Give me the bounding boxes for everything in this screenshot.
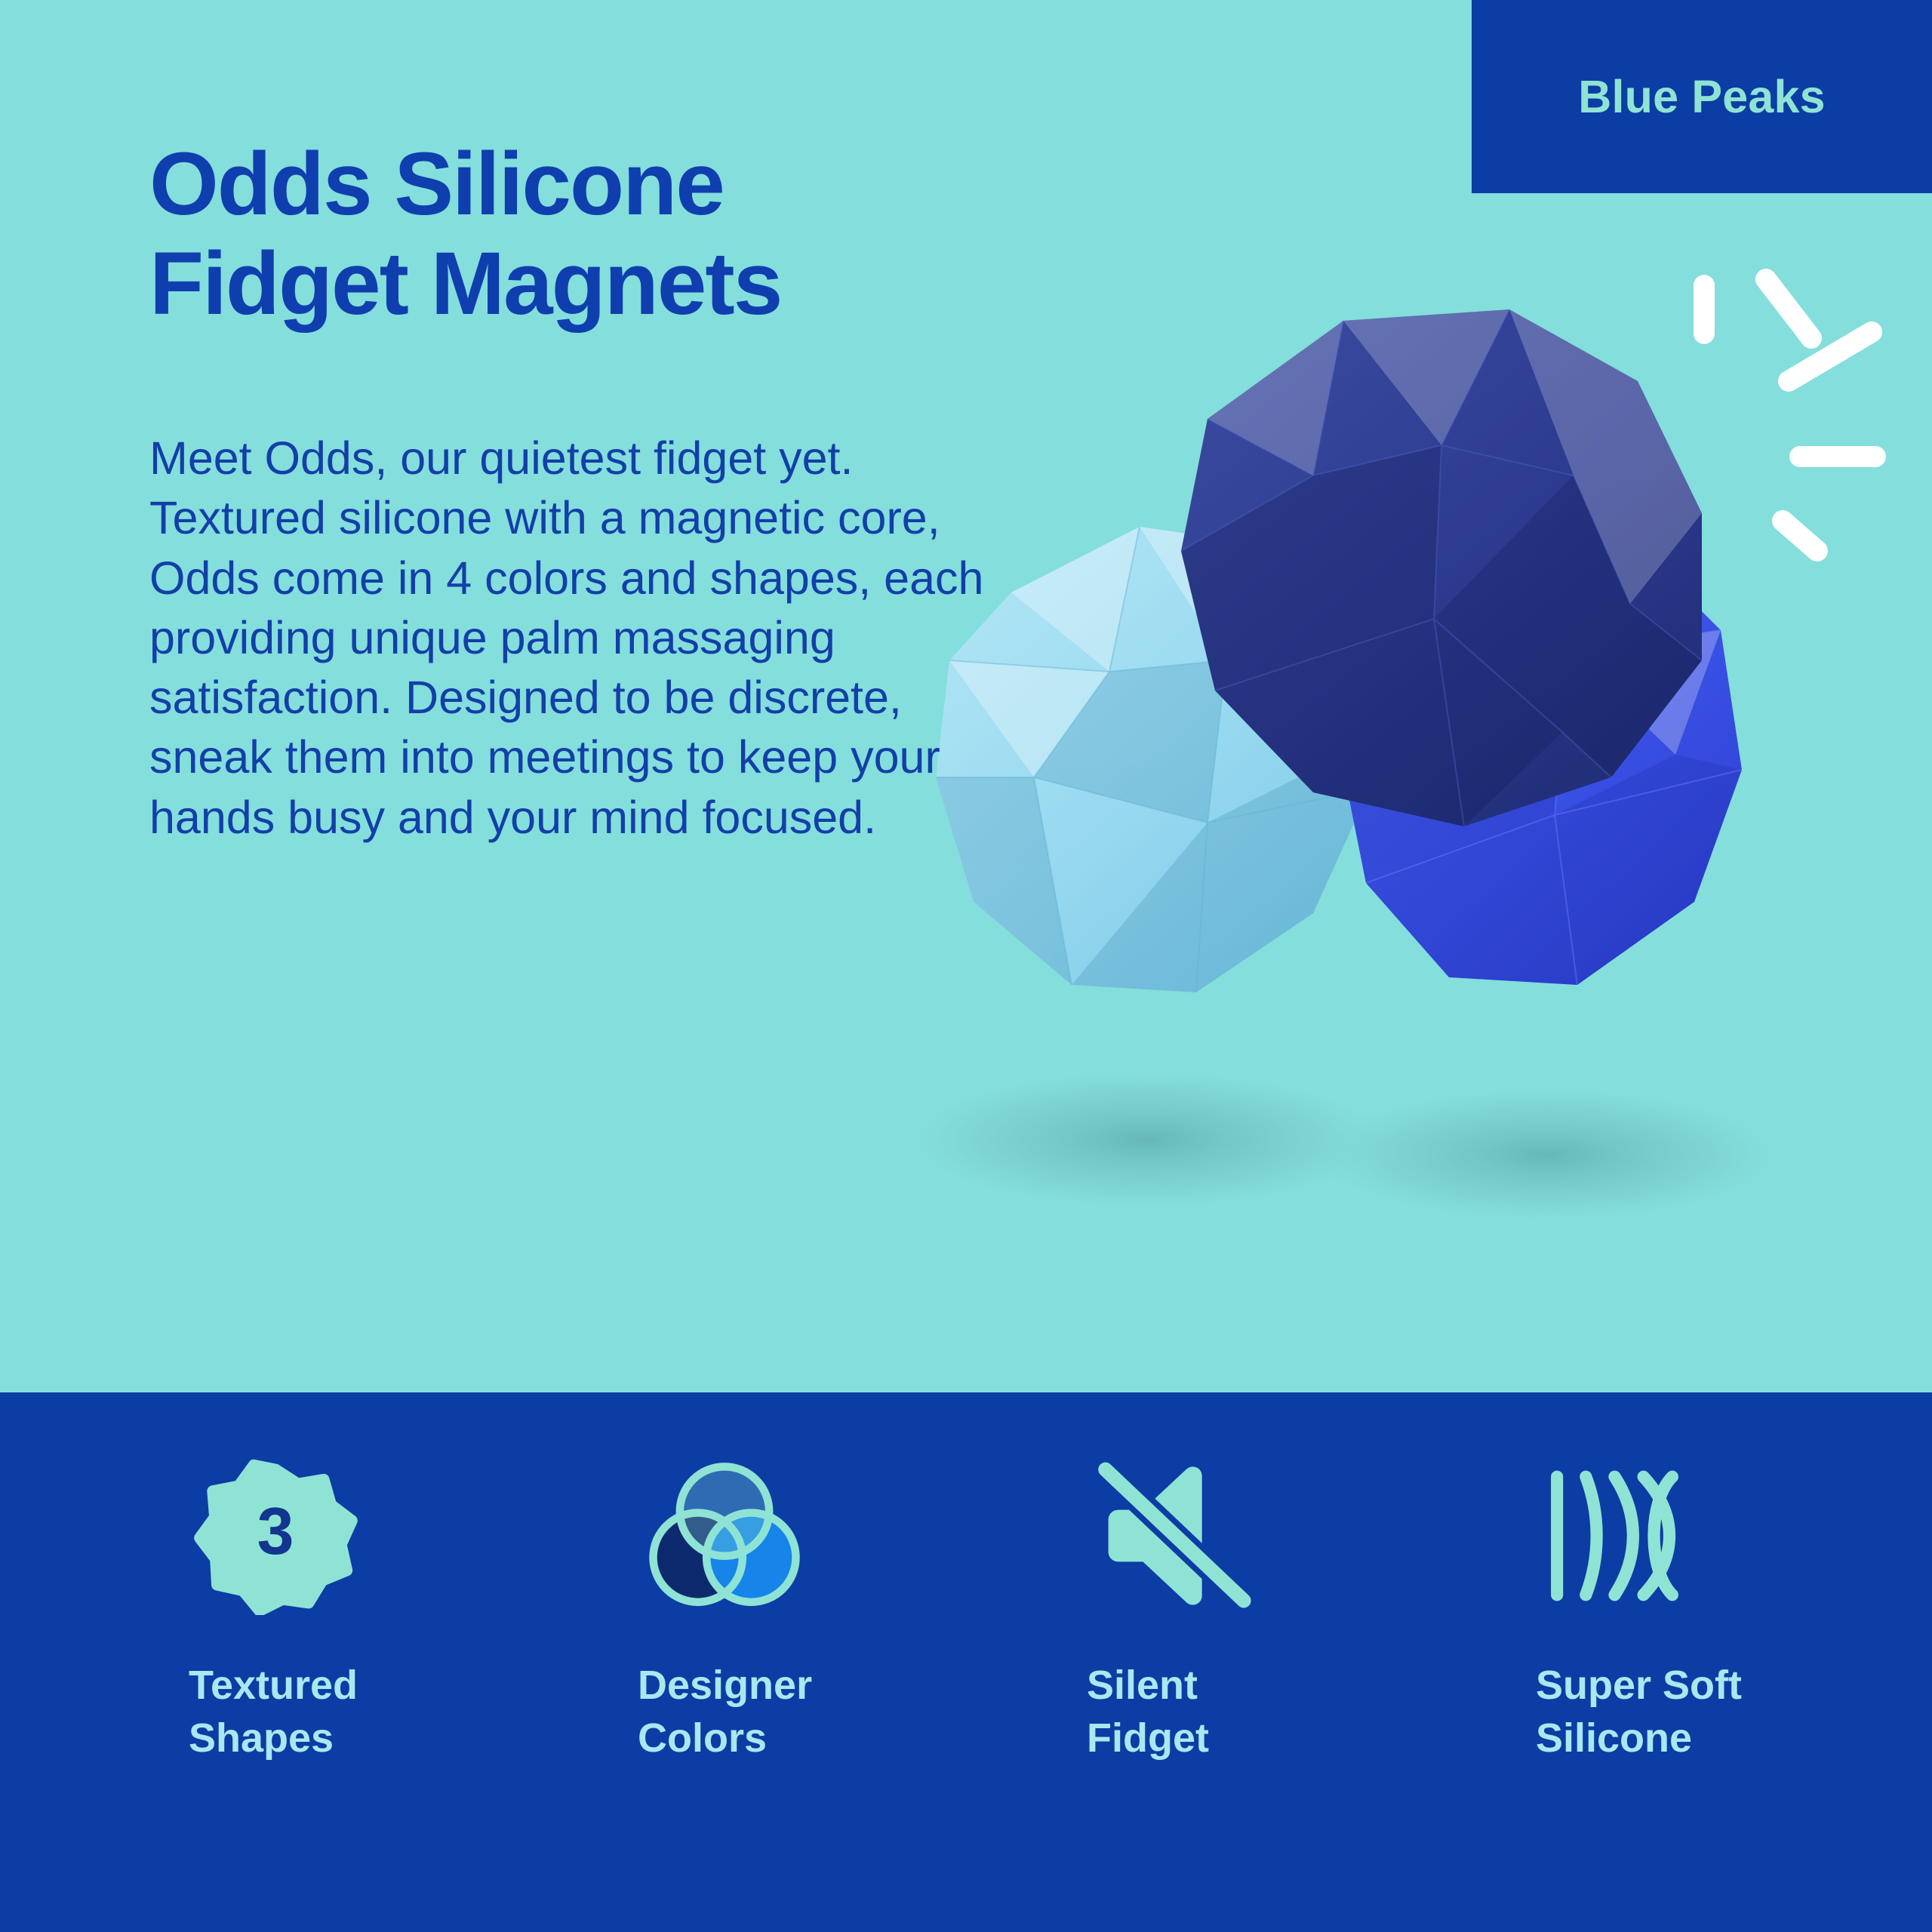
hero-panel: Blue Peaks Odds Silicone Fidget Magnets … — [0, 0, 1932, 1392]
feature-list: 3 Textured Shapes Designer Colors — [0, 1392, 1932, 1932]
page-title-line-2: Fidget Magnets — [149, 234, 1085, 334]
page-title-line-1: Odds Silicone — [149, 134, 1085, 234]
feature-item-super-soft-silicone: Super Soft Silicone — [1536, 1457, 1913, 1764]
soft-waves-icon — [1536, 1457, 1709, 1615]
feature-label-silent-fidget: Silent Fidget — [1087, 1659, 1464, 1764]
feature-bar: 3 Textured Shapes Designer Colors — [0, 1392, 1932, 1932]
shadow-right — [1306, 1085, 1789, 1224]
muted-speaker-icon — [1087, 1457, 1275, 1615]
feature-label-designer-colors: Designer Colors — [638, 1659, 1015, 1764]
feature-item-textured-shapes: 3 Textured Shapes — [189, 1457, 566, 1764]
venn-circles-icon — [638, 1457, 811, 1615]
feature-label-super-soft-silicone: Super Soft Silicone — [1536, 1659, 1913, 1764]
brand-badge: Blue Peaks — [1472, 0, 1932, 193]
feature-label-textured-shapes: Textured Shapes — [189, 1659, 566, 1764]
badge-number: 3 — [257, 1494, 294, 1568]
product-description: Meet Odds, our quietest fidget yet. Text… — [149, 429, 1002, 848]
feature-item-designer-colors: Designer Colors — [638, 1457, 1015, 1764]
starburst-badge-icon: 3 — [189, 1457, 362, 1615]
page-title: Odds Silicone Fidget Magnets — [149, 134, 1085, 334]
brand-name: Blue Peaks — [1578, 70, 1826, 123]
sparkle-burst-icon — [1704, 279, 1875, 551]
feature-item-silent-fidget: Silent Fidget — [1087, 1457, 1464, 1764]
